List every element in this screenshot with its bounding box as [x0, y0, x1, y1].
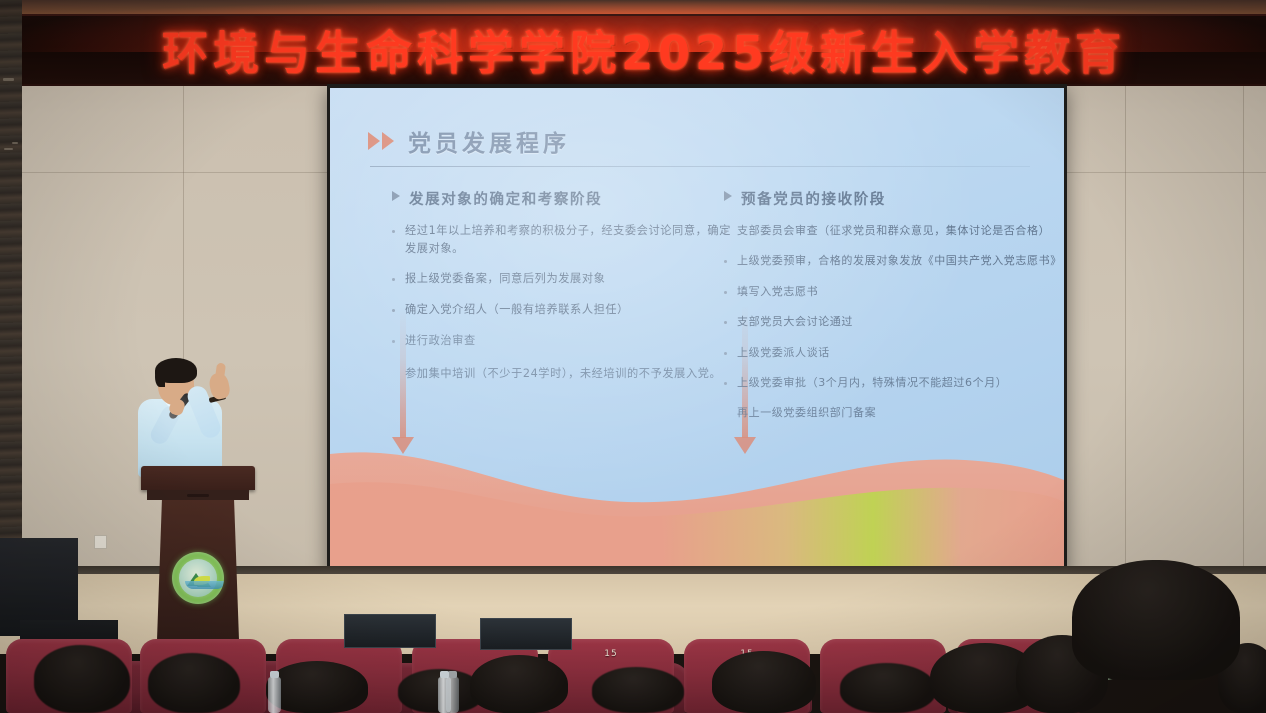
wall-seam-vertical: [1125, 82, 1126, 582]
list-item: 支部党员大会讨论通过: [724, 313, 1054, 330]
audience-head: [266, 661, 368, 713]
emblem-inner: [179, 559, 217, 597]
audience-head: [34, 645, 130, 713]
audience-head: [592, 667, 684, 713]
bullet-text: 支部党员大会讨论通过: [737, 313, 1054, 330]
list-item: 确定入党介绍人（一般有培养联系人担任）: [392, 301, 732, 319]
column-heading-text: 预备党员的接收阶段: [741, 188, 886, 209]
bullet-text: 上级党委审批（3个月内，特殊情况不能超过6个月）: [737, 374, 1064, 391]
desk-monitor: [344, 614, 436, 648]
bullet-text: 进行政治审查: [405, 332, 732, 350]
college-emblem-icon: [172, 552, 224, 604]
projection-screen-frame: 党员发展程序 发展对象的确定和考察阶段: [327, 84, 1067, 574]
bullet-text: 报上级党委备案，同意后列为发展对象: [405, 270, 732, 288]
led-banner: 环境与生命科学学院2025级新生入学教育: [22, 14, 1266, 86]
list-item: 上级党委预审，合格的发展对象发放《中国共产党入党志愿书》: [724, 252, 1060, 269]
audience-head: [1072, 560, 1240, 680]
bullet-dot-icon: [392, 373, 395, 376]
bullet-dot-icon: [724, 382, 727, 385]
water-bottle: [446, 677, 459, 713]
bullet-text: 经过1年以上培养和考察的积极分子，经支委会讨论同意，确定发展对象。: [405, 222, 732, 257]
emblem-water-icon: [185, 581, 224, 589]
presenter-hair-side: [155, 367, 165, 387]
seat-number: 15: [604, 649, 617, 659]
bullet-dot-icon: [724, 412, 727, 415]
column-heading: 发展对象的确定和考察阶段: [392, 188, 732, 209]
lecture-hall-photo: 环境与生命科学学院2025级新生入学教育: [0, 0, 1266, 713]
arrow-bullet-icon: [724, 191, 732, 201]
list-item: 支部委员会审查（征求党员和群众意见，集体讨论是否合格）: [724, 222, 1064, 239]
banner-title-text: 环境与生命科学学院2025级新生入学教育: [22, 17, 1266, 83]
wall-seam-vertical: [1243, 82, 1244, 582]
column-heading: 预备党员的接收阶段: [724, 188, 1054, 209]
slide-title: 党员发展程序: [408, 124, 570, 158]
slide-columns: 发展对象的确定和考察阶段 经过1年以上培养和考察的积极分子，经支委会讨论同意，确…: [330, 188, 1064, 435]
slide-title-underline: [370, 166, 1030, 167]
bullet-dot-icon: [392, 278, 395, 281]
bullet-dot-icon: [724, 291, 727, 294]
list-item: 报上级党委备案，同意后列为发展对象: [392, 270, 732, 288]
slide-wave-decoration: [330, 436, 1064, 566]
list-item: 填写入党志愿书: [724, 283, 1054, 300]
desk-monitor: [480, 618, 572, 650]
column-heading-text: 发展对象的确定和考察阶段: [409, 188, 602, 209]
audience-head: [712, 651, 816, 713]
bullet-dot-icon: [724, 352, 727, 355]
slide-title-row: 党员发展程序: [368, 124, 570, 158]
list-item: 进行政治审查: [392, 332, 732, 350]
water-bottle: [268, 677, 281, 713]
double-triangle-marker-icon: [368, 132, 394, 150]
wall-switch: [94, 535, 107, 549]
audience-seating: 15 15: [0, 620, 1266, 713]
bullet-text: 确定入党介绍人（一般有培养联系人担任）: [405, 301, 732, 319]
bullet-dot-icon: [724, 230, 727, 233]
bullet-dot-icon: [392, 309, 395, 312]
list-item: 参加集中培训（不少于24学时），未经培训的不予发展入党。: [392, 365, 732, 383]
bullet-text: 上级党委派人谈话: [737, 344, 1054, 361]
projected-slide: 党员发展程序 发展对象的确定和考察阶段: [330, 88, 1064, 566]
bullet-text: 参加集中培训（不少于24学时），未经培训的不予发展入党。: [405, 365, 732, 383]
list-item: 再上一级党委组织部门备案: [724, 404, 1054, 421]
podium-top: [141, 466, 255, 490]
bullet-dot-icon: [724, 321, 727, 324]
list-item: 经过1年以上培养和考察的积极分子，经支委会讨论同意，确定发展对象。: [392, 222, 732, 257]
slide-column-left: 发展对象的确定和考察阶段 经过1年以上培养和考察的积极分子，经支委会讨论同意，确…: [392, 188, 732, 435]
bullet-list-right: 支部委员会审查（征求党员和群众意见，集体讨论是否合格） 上级党委预审，合格的发展…: [724, 222, 1054, 422]
arrow-bullet-icon: [392, 191, 400, 201]
audience-head: [840, 663, 936, 713]
audience-head: [470, 655, 568, 713]
bullet-dot-icon: [392, 230, 395, 233]
bullet-list-left: 经过1年以上培养和考察的积极分子，经支委会讨论同意，确定发展对象。 报上级党委备…: [392, 222, 732, 383]
list-item: 上级党委派人谈话: [724, 344, 1054, 361]
podium-slot: [187, 494, 209, 497]
bullet-text: 再上一级党委组织部门备案: [737, 404, 1054, 421]
bullet-text: 支部委员会审查（征求党员和群众意见，集体讨论是否合格）: [737, 222, 1064, 239]
list-item: 上级党委审批（3个月内，特殊情况不能超过6个月）: [724, 374, 1064, 391]
bullet-dot-icon: [724, 260, 727, 263]
bullet-dot-icon: [392, 340, 395, 343]
bullet-text: 上级党委预审，合格的发展对象发放《中国共产党入党志愿书》: [737, 252, 1060, 269]
slide-column-right: 预备党员的接收阶段 支部委员会审查（征求党员和群众意见，集体讨论是否合格） 上级…: [724, 188, 1054, 435]
audience-head: [148, 653, 240, 713]
bullet-text: 填写入党志愿书: [737, 283, 1054, 300]
